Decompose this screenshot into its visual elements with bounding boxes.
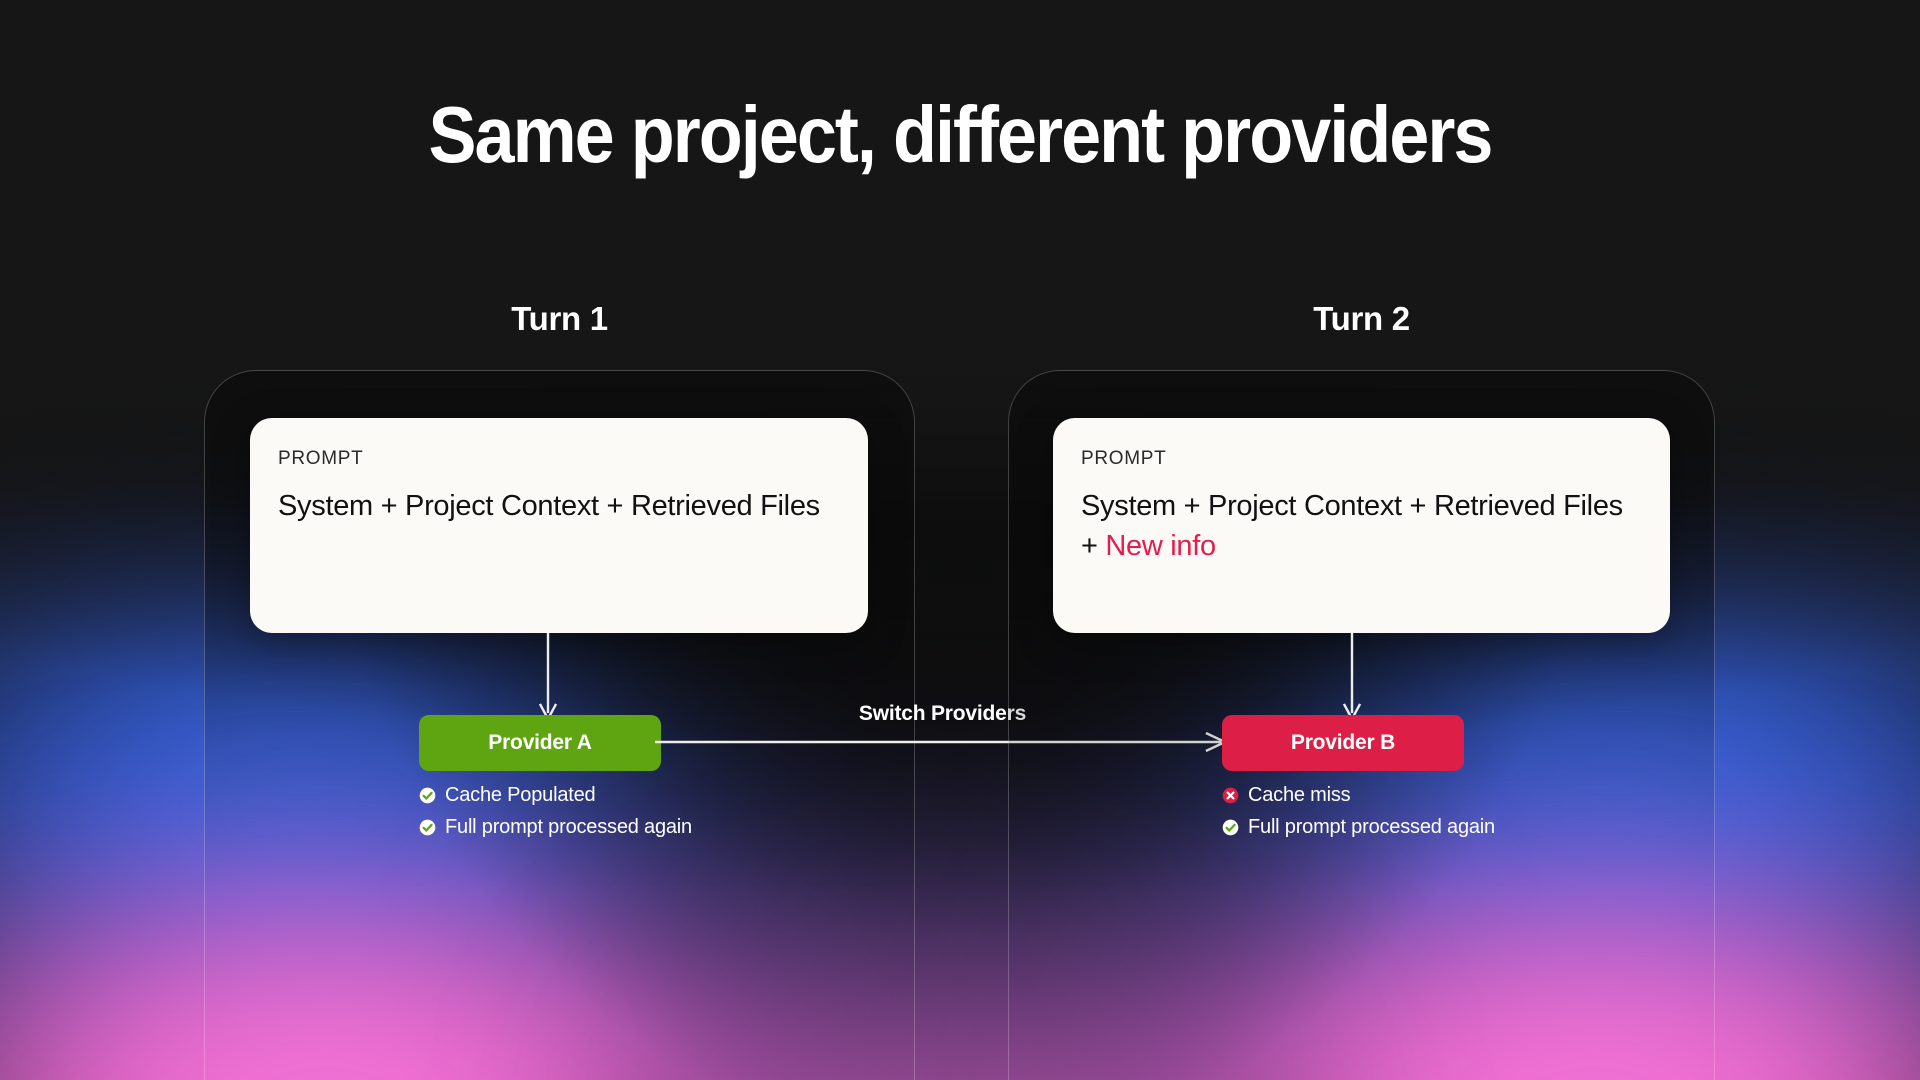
turn-label-1: Turn 1 bbox=[204, 300, 915, 338]
provider-b-button[interactable]: Provider B bbox=[1222, 715, 1464, 771]
prompt-card-turn-2: PROMPT System + Project Context + Retrie… bbox=[1053, 418, 1670, 633]
prompt-kicker-2: PROMPT bbox=[1081, 448, 1642, 470]
status-label: Cache Populated bbox=[445, 785, 595, 805]
status-item: Full prompt processed again bbox=[419, 817, 839, 837]
diagram-canvas: Same project, different providers Turn 1… bbox=[0, 0, 1920, 1080]
check-circle-icon bbox=[1222, 819, 1239, 836]
status-label: Full prompt processed again bbox=[445, 817, 692, 837]
status-list-turn-1: Cache Populated Full prompt processed ag… bbox=[419, 785, 839, 849]
prompt-kicker-1: PROMPT bbox=[278, 448, 840, 470]
flow-arrow-prompt-to-provider-b bbox=[1341, 633, 1363, 721]
status-item: Cache Populated bbox=[419, 785, 839, 805]
prompt-text-main-1: System + Project Context + Retrieved Fil… bbox=[278, 490, 820, 522]
turn-label-2: Turn 2 bbox=[1008, 300, 1715, 338]
provider-a-label: Provider A bbox=[488, 731, 591, 755]
flow-arrow-prompt-to-provider-a bbox=[537, 633, 559, 721]
provider-a-button[interactable]: Provider A bbox=[419, 715, 661, 771]
prompt-text-2: System + Project Context + Retrieved Fil… bbox=[1081, 486, 1642, 566]
status-label: Full prompt processed again bbox=[1248, 817, 1495, 837]
status-list-turn-2: Cache miss Full prompt processed again bbox=[1222, 785, 1642, 849]
prompt-card-turn-1: PROMPT System + Project Context + Retrie… bbox=[250, 418, 868, 633]
status-label: Cache miss bbox=[1248, 785, 1350, 805]
provider-b-label: Provider B bbox=[1291, 731, 1395, 755]
page-title: Same project, different providers bbox=[96, 92, 1824, 178]
status-item: Full prompt processed again bbox=[1222, 817, 1642, 837]
prompt-text-accent-2: New info bbox=[1105, 530, 1215, 562]
check-circle-icon bbox=[419, 787, 436, 804]
x-circle-icon bbox=[1222, 787, 1239, 804]
prompt-text-1: System + Project Context + Retrieved Fil… bbox=[278, 486, 840, 526]
status-item: Cache miss bbox=[1222, 785, 1642, 805]
check-circle-icon bbox=[419, 819, 436, 836]
